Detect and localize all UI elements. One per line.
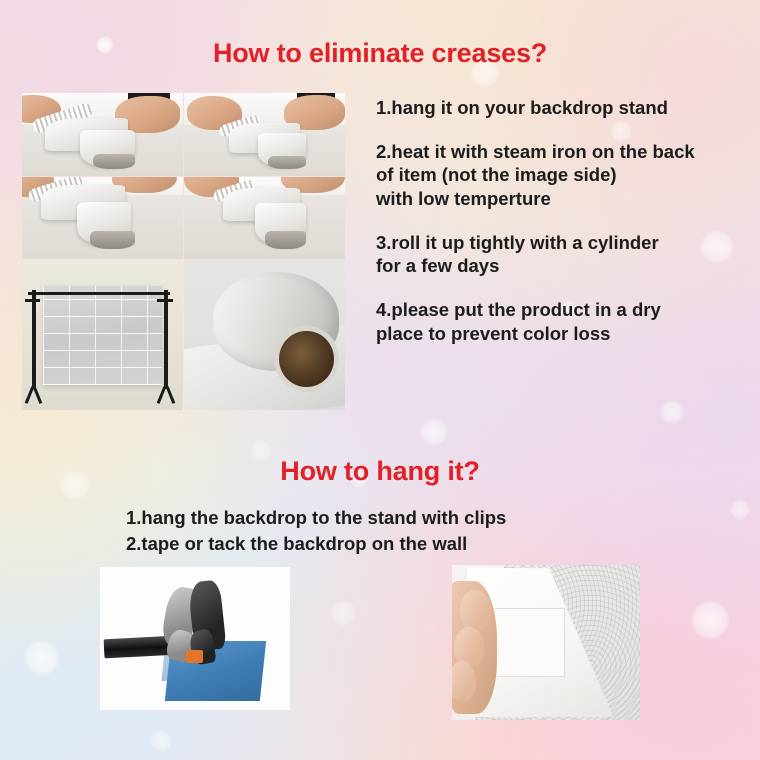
hang-step-list: 1.hang the backdrop to the stand with cl… (126, 505, 646, 558)
photo-rolled-backdrop (184, 260, 345, 410)
creases-step-3: 3.roll it up tightly with a cylinder for… (376, 231, 760, 278)
photo-iron-fabric-right-2 (184, 177, 345, 259)
photo-spring-clamp (100, 567, 290, 710)
photo-iron-fabric-right (184, 93, 345, 176)
page-title-how-to-hang: How to hang it? (0, 456, 760, 487)
photo-iron-fabric-left-2 (22, 177, 183, 259)
creases-step-4: 4.please put the product in a dry place … (376, 298, 760, 345)
promo-infographic: How to eliminate creases? (0, 0, 760, 760)
creases-step-list: 1.hang it on your backdrop stand 2.heat … (376, 96, 760, 345)
creases-step-1: 1.hang it on your backdrop stand (376, 96, 760, 120)
photo-adhesive-tape-peel (452, 565, 640, 720)
hang-step-2: 2.tape or tack the backdrop on the wall (126, 531, 646, 557)
photo-backdrop-on-stand (22, 260, 183, 410)
creases-step-2: 2.heat it with steam iron on the back of… (376, 140, 760, 211)
hang-step-1: 1.hang the backdrop to the stand with cl… (126, 505, 646, 531)
photo-iron-fabric-left (22, 93, 183, 176)
page-title-eliminate-creases: How to eliminate creases? (0, 38, 760, 69)
